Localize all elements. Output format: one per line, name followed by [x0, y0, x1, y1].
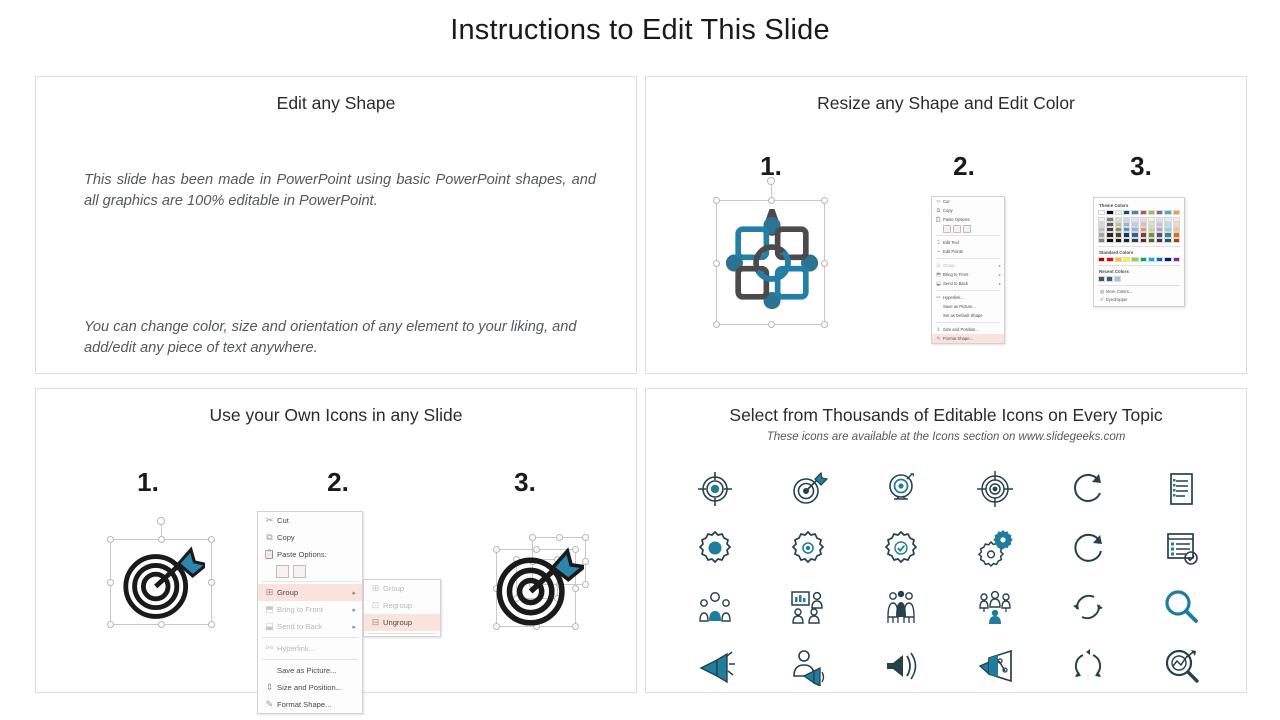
document-list-icon[interactable]	[1161, 469, 1201, 509]
paste-option-3-icon[interactable]	[963, 225, 971, 233]
recent-colors-heading: Recent Colors	[1099, 269, 1180, 274]
paste-icon: 📋	[262, 549, 277, 560]
menu-separator	[936, 322, 1000, 323]
menu-item-label: Hyperlink...	[943, 295, 1002, 300]
menu-item-format-shape[interactable]: ✎Format Shape...	[932, 334, 1004, 343]
menu-item-label: Paste Options:	[277, 550, 358, 559]
group-icon: ⊞	[262, 587, 277, 598]
menu-item-paste-options[interactable]: 📋Paste Options:	[258, 546, 362, 563]
resize-handle-ne[interactable]	[821, 197, 828, 204]
color-swatch[interactable]	[1106, 238, 1113, 243]
resize-handle-n[interactable]	[768, 197, 775, 204]
panel-editable-icons: Select from Thousands of Editable Icons …	[645, 388, 1247, 693]
menu-item-ungroup[interactable]: ⊟Ungroup	[364, 614, 440, 631]
eyedropper-icon: ✐	[1098, 297, 1106, 303]
menu-item-size-and-position[interactable]: ⇕Size and Position...	[932, 325, 1004, 334]
resize-handle-sw[interactable]	[713, 321, 720, 328]
send-back-icon: ⬓	[262, 621, 277, 632]
size-position-icon: ⇕	[262, 682, 277, 693]
icons-step-1-label: 1.	[118, 467, 178, 498]
copy-icon: ⧉	[262, 532, 277, 543]
icons-step-3-label: 3.	[495, 467, 555, 498]
page-title: Instructions to Edit This Slide	[0, 14, 1280, 47]
color-swatch[interactable]	[1098, 257, 1105, 262]
color-swatch[interactable]	[1164, 238, 1171, 243]
color-swatch[interactable]	[1098, 238, 1105, 243]
color-swatch[interactable]	[1156, 257, 1163, 262]
crosshair-target-icon[interactable]	[695, 469, 735, 509]
standard-colors-heading: Standard Colors	[1099, 250, 1180, 255]
menu-item-copy[interactable]: ⧉Copy	[932, 206, 1004, 215]
resize-handle-e[interactable]	[821, 260, 828, 267]
paste-option-2-icon[interactable]	[953, 225, 961, 233]
theme-colors-heading: Theme Colors	[1099, 203, 1180, 208]
menu-item-label: Cut	[277, 516, 358, 525]
person-megaphone-icon[interactable]	[788, 646, 828, 686]
hyperlink-icon: ⚯	[934, 295, 943, 301]
rotate-handle[interactable]	[157, 517, 165, 525]
menu-item-label: Bring to Front	[943, 272, 999, 277]
chevron-right-icon: ▸	[352, 623, 358, 631]
loudspeaker-icon[interactable]	[881, 646, 921, 686]
color-swatch[interactable]	[1131, 210, 1138, 215]
menu-item-cut[interactable]: ✂Cut	[258, 512, 362, 529]
menu-item-group[interactable]: ⊞Group▸	[258, 584, 362, 601]
format-shape-icon: ✎	[262, 699, 277, 710]
menu-item-label: Size and Position...	[277, 683, 358, 692]
menu-item-save-as-picture[interactable]: Save as Picture...	[932, 302, 1004, 311]
quadrant-ring-icon	[725, 209, 819, 322]
resize-handle-nw[interactable]	[107, 536, 114, 543]
paste-option-1-icon[interactable]	[943, 225, 951, 233]
menu-item-label: Edit Text	[943, 240, 1002, 245]
menu-separator	[262, 659, 358, 660]
color-swatch[interactable]	[1164, 210, 1171, 215]
magnifier-target-icon[interactable]	[1161, 646, 1201, 686]
menu-separator	[936, 258, 1000, 259]
menu-item-size-and-position[interactable]: ⇕Size and Position...	[258, 679, 362, 696]
edit-shape-paragraph-1: This slide has been made in PowerPoint u…	[84, 170, 596, 211]
copy-icon: ⧉	[934, 208, 943, 214]
chevron-right-icon: ▸	[999, 281, 1002, 286]
recent-color-swatch[interactable]	[1098, 276, 1105, 281]
gear-check-icon[interactable]	[881, 528, 921, 568]
menu-item-group[interactable]: ⊞Group▸	[932, 261, 1004, 270]
more-colors-label: More Colors...	[1106, 289, 1132, 294]
menu-item-label: Group	[943, 263, 999, 268]
menu-item-copy[interactable]: ⧉Copy	[258, 529, 362, 546]
panel-resize-shape: Resize any Shape and Edit Color 1. 2. 3.	[645, 76, 1247, 374]
team-meeting-icon[interactable]	[975, 587, 1015, 627]
menu-item-label: Send to Back	[943, 281, 999, 286]
menu-separator	[262, 637, 358, 638]
target-stand-icon[interactable]	[881, 469, 921, 509]
resize-handle-w[interactable]	[713, 260, 720, 267]
color-swatch[interactable]	[1156, 210, 1163, 215]
paste-option-buttons[interactable]	[932, 224, 1004, 233]
group-people-icon[interactable]	[881, 587, 921, 627]
bring-front-icon: ⬒	[262, 604, 277, 615]
more-colors-item[interactable]: ◍ More Colors...	[1098, 289, 1180, 295]
menu-item-label: Set as Default Shape	[943, 313, 1002, 318]
menu-item-regroup[interactable]: ⊡Regroup	[364, 597, 440, 614]
color-swatch[interactable]	[1106, 257, 1113, 262]
menu-item-label: Size and Position...	[943, 327, 1002, 332]
menu-item-label: Cut	[943, 199, 1002, 204]
edit-text-icon: ⌶	[934, 240, 943, 246]
panel-own-icons: Use your Own Icons in any Slide 1. 2. 3.	[35, 388, 637, 693]
target-dart-icon[interactable]	[788, 469, 828, 509]
menu-item-label: Format Shape...	[277, 700, 358, 709]
menu-item-group[interactable]: ⊞Group	[364, 580, 440, 597]
paste-option-1-icon[interactable]	[276, 565, 289, 578]
context-menu-shape[interactable]: ✂Cut⧉Copy📋Paste Options:⌶Edit Text⌁Edit …	[931, 196, 1005, 344]
send-back-icon: ⬓	[934, 281, 943, 287]
chevron-right-icon: ▸	[999, 272, 1002, 277]
menu-separator	[936, 235, 1000, 236]
resize-step-2-label: 2.	[934, 151, 994, 182]
slide-canvas: Instructions to Edit This Slide Edit any…	[0, 0, 1280, 720]
resize-handle-n[interactable]	[158, 536, 165, 543]
color-swatch[interactable]	[1148, 210, 1155, 215]
color-swatch[interactable]	[1164, 257, 1171, 262]
checklist-document-icon[interactable]	[1161, 528, 1201, 568]
format-shape-icon: ✎	[934, 336, 943, 342]
paste-option-buttons[interactable]	[258, 563, 362, 579]
chevron-right-icon: ▸	[999, 263, 1002, 268]
magnifier-icon[interactable]	[1161, 587, 1201, 627]
panel-subtitle-editable-icons: These icons are available at the Icons s…	[646, 431, 1246, 443]
recent-color-swatch[interactable]	[1114, 276, 1121, 281]
color-swatch[interactable]	[1123, 238, 1130, 243]
menu-item-label: Save as Picture...	[943, 304, 1002, 309]
refresh-circle-icon[interactable]	[1068, 528, 1108, 568]
target-dart-ungrouped-icon	[492, 543, 584, 634]
color-swatch[interactable]	[1156, 238, 1163, 243]
menu-item-hyperlink[interactable]: ⚯Hyperlink...	[932, 293, 1004, 302]
color-swatch[interactable]	[1173, 238, 1180, 243]
menu-item-label: Edit Points	[943, 249, 1002, 254]
menu-item-label: Format Shape...	[943, 336, 1002, 341]
menu-item-label: Group	[277, 588, 352, 597]
chevron-right-icon: ▸	[352, 606, 358, 614]
menu-item-send-to-back[interactable]: ⬓Send to Back▸	[258, 618, 362, 635]
color-picker-panel[interactable]: Theme Colors Standard Colors Recent Colo…	[1093, 197, 1185, 307]
scissors-icon: ✂	[934, 199, 943, 205]
edit-shape-paragraph-2: You can change color, size and orientati…	[84, 317, 596, 358]
menu-item-label: Copy	[943, 208, 1002, 213]
megaphone-icon[interactable]	[695, 646, 735, 686]
team-people-icon[interactable]	[695, 587, 735, 627]
panel-title-edit-shape: Edit any Shape	[36, 93, 636, 114]
menu-item-paste-options[interactable]: 📋Paste Options:	[932, 215, 1004, 224]
color-swatch[interactable]	[1115, 257, 1122, 262]
gear-center-icon[interactable]	[788, 528, 828, 568]
context-menu-icons[interactable]: ✂Cut⧉Copy📋Paste Options:⊞Group▸⬒Bring to…	[257, 511, 363, 714]
paste-icon: 📋	[934, 217, 943, 223]
regroup-icon: ⊡	[368, 600, 383, 611]
panel-edit-any-shape: Edit any Shape This slide has been made …	[35, 76, 637, 374]
color-swatch[interactable]	[1115, 238, 1122, 243]
eyedropper-item[interactable]: ✐ Eyedropper	[1098, 297, 1180, 303]
menu-item-label: Group	[383, 584, 436, 593]
resize-handle-nw[interactable]	[713, 197, 720, 204]
menu-item-bring-to-front[interactable]: ⬒Bring to Front▸	[258, 601, 362, 618]
bring-front-icon: ⬒	[934, 272, 943, 278]
color-swatch[interactable]	[1140, 210, 1147, 215]
menu-item-label: Paste Options:	[943, 217, 1002, 222]
menu-separator	[262, 581, 358, 582]
cycle-arrows-icon[interactable]	[1068, 646, 1108, 686]
color-swatch[interactable]	[1098, 210, 1105, 215]
icons-step-2-label: 2.	[308, 467, 368, 498]
panel-title-resize-shape: Resize any Shape and Edit Color	[646, 93, 1246, 114]
group-icon: ⊞	[368, 583, 383, 594]
color-swatch[interactable]	[1123, 257, 1130, 262]
menu-item-label: Send to Back	[277, 622, 352, 631]
menu-item-send-to-back[interactable]: ⬓Send to Back▸	[932, 279, 1004, 288]
menu-item-format-shape[interactable]: ✎Format Shape...	[258, 696, 362, 713]
menu-item-label: Save as Picture...	[277, 666, 358, 675]
color-swatch[interactable]	[1148, 238, 1155, 243]
menu-item-label: Bring to Front	[277, 605, 352, 614]
resize-handle-e[interactable]	[208, 579, 215, 586]
menu-item-set-as-default-shape[interactable]: Set as Default Shape	[932, 311, 1004, 320]
menu-item-save-as-picture[interactable]: Save as Picture...	[258, 662, 362, 679]
chevron-right-icon: ▸	[352, 589, 358, 597]
scissors-icon: ✂	[262, 515, 277, 526]
menu-item-bring-to-front[interactable]: ⬒Bring to Front▸	[932, 270, 1004, 279]
size-position-icon: ⇕	[934, 327, 943, 333]
color-swatch[interactable]	[1148, 257, 1155, 262]
presentation-people-icon[interactable]	[788, 587, 828, 627]
menu-item-cut[interactable]: ✂Cut	[932, 197, 1004, 206]
gear-solid-icon[interactable]	[695, 528, 735, 568]
panel-title-own-icons: Use your Own Icons in any Slide	[36, 405, 636, 426]
edit-points-icon: ⌁	[934, 249, 943, 255]
paste-option-2-icon[interactable]	[293, 565, 306, 578]
color-swatch[interactable]	[1173, 257, 1180, 262]
menu-item-label: Ungroup	[383, 618, 436, 627]
menu-separator	[936, 290, 1000, 291]
resize-handle-se[interactable]	[208, 621, 215, 628]
color-swatch[interactable]	[1106, 210, 1113, 215]
color-swatch[interactable]	[1115, 210, 1122, 215]
selection-frame-shape[interactable]	[716, 200, 825, 325]
menu-item-hyperlink[interactable]: ⚯Hyperlink...	[258, 640, 362, 657]
sync-arrows-icon[interactable]	[1068, 587, 1108, 627]
color-swatch[interactable]	[1173, 210, 1180, 215]
crosshair-dark-icon[interactable]	[975, 469, 1015, 509]
context-submenu-group[interactable]: ⊞Group⊡Regroup⊟Ungroup	[363, 579, 441, 637]
resize-step-3-label: 3.	[1111, 151, 1171, 182]
palette-icon: ◍	[1098, 289, 1106, 295]
color-swatch[interactable]	[1131, 238, 1138, 243]
rotate-handle[interactable]	[767, 177, 775, 185]
resize-handle-ne[interactable]	[208, 536, 215, 543]
icon-gallery-grid	[668, 459, 1228, 695]
menu-item-edit-points[interactable]: ⌁Edit Points	[932, 247, 1004, 256]
menu-item-label: Hyperlink...	[277, 644, 358, 653]
recent-color-swatch[interactable]	[1106, 276, 1113, 281]
resize-handle-w[interactable]	[107, 579, 114, 586]
double-gear-icon[interactable]	[975, 528, 1015, 568]
target-dart-icon	[117, 544, 205, 627]
menu-item-label: Regroup	[383, 601, 436, 610]
menu-item-edit-text[interactable]: ⌶Edit Text	[932, 238, 1004, 247]
color-swatch[interactable]	[1140, 238, 1147, 243]
resize-handle-sw[interactable]	[107, 621, 114, 628]
ungroup-icon: ⊟	[368, 617, 383, 628]
ungrouped-icon-wrapper[interactable]	[480, 531, 590, 635]
selection-frame-target-grouped[interactable]	[110, 539, 212, 625]
rotate-arrow-icon[interactable]	[1068, 469, 1108, 509]
group-icon: ⊞	[934, 263, 943, 269]
color-swatch[interactable]	[1140, 257, 1147, 262]
eyedropper-label: Eyedropper	[1106, 297, 1128, 302]
hyperlink-icon: ⚯	[262, 643, 277, 654]
color-swatch[interactable]	[1131, 257, 1138, 262]
resize-handle-s[interactable]	[768, 321, 775, 328]
menu-separator	[368, 633, 436, 634]
color-swatch[interactable]	[1123, 210, 1130, 215]
megaphone-percent-icon[interactable]	[975, 646, 1015, 686]
panel-title-editable-icons: Select from Thousands of Editable Icons …	[646, 405, 1246, 426]
menu-item-label: Copy	[277, 533, 358, 542]
resize-handle-se[interactable]	[821, 321, 828, 328]
